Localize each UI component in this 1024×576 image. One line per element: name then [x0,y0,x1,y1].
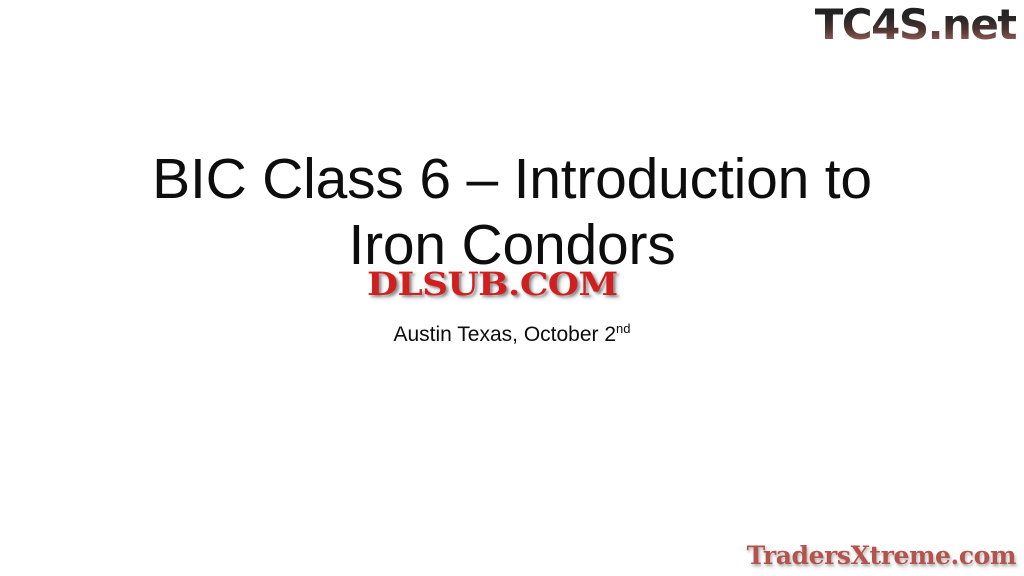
presentation-slide: TC4S.net BIC Class 6 – Introduction to I… [0,0,1024,576]
page-title: BIC Class 6 – Introduction to Iron Condo… [0,146,1024,278]
tradersxtreme-com-watermark: TradersXtreme.com [747,541,1016,571]
dlsub-com-watermark: DLSUB.COM [367,264,618,304]
title-block: BIC Class 6 – Introduction to Iron Condo… [0,146,1024,278]
slide-subtitle: Austin Texas, October 2nd [0,322,1024,348]
subtitle-ordinal-suffix: nd [616,321,630,336]
subtitle-text: Austin Texas, October 2 [393,323,616,346]
tc4s-logo-watermark: TC4S.net [815,2,1016,48]
